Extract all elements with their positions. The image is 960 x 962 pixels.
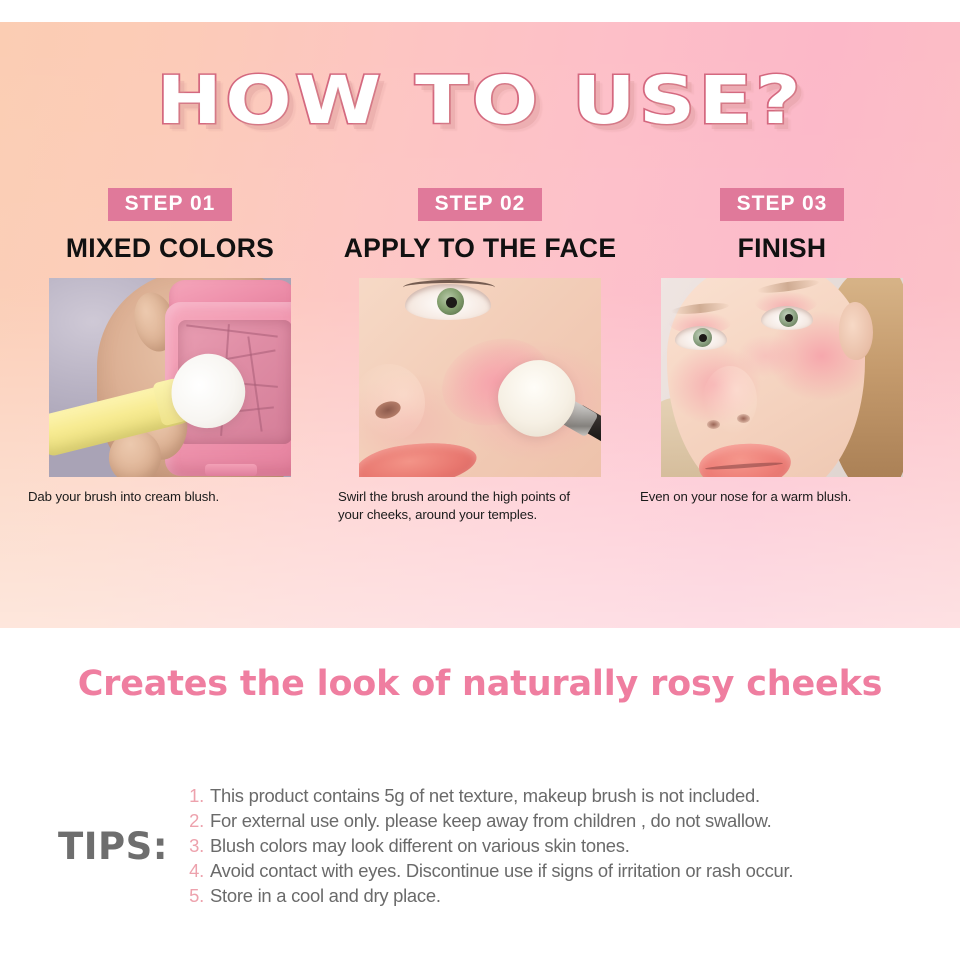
step-badge-1: STEP 01 xyxy=(108,188,233,221)
step-title-3: FINISH xyxy=(632,233,932,264)
tip-text: This product contains 5g of net texture,… xyxy=(210,783,938,808)
step-column-1: STEP 01 MIXED COLORS xyxy=(20,188,320,506)
eyelash-shape xyxy=(403,280,495,295)
list-item: 5. Store in a cool and dry place. xyxy=(178,883,938,908)
ear-shape xyxy=(839,302,873,360)
tip-number: 4. xyxy=(178,858,204,883)
tip-number: 1. xyxy=(178,783,204,808)
step-badge-row-2: STEP 02 xyxy=(330,188,630,221)
tips-list: 1. This product contains 5g of net textu… xyxy=(178,783,938,908)
steps-container: STEP 01 MIXED COLORS xyxy=(0,188,960,588)
tip-text: For external use only. please keep away … xyxy=(210,808,938,833)
step-caption-2: Swirl the brush around the high points o… xyxy=(338,488,588,524)
compact-clip xyxy=(205,464,257,476)
step-column-3: STEP 03 FINISH Even on your nose fo xyxy=(632,188,932,506)
finished-rosy-makeup-look-photo xyxy=(661,278,903,477)
nostril-shape xyxy=(737,414,750,423)
step-badge-3: STEP 03 xyxy=(720,188,845,221)
compact-blush-with-brush-photo xyxy=(49,278,291,477)
list-item: 3. Blush colors may look different on va… xyxy=(178,833,938,858)
tip-text: Store in a cool and dry place. xyxy=(210,883,938,908)
list-item: 1. This product contains 5g of net textu… xyxy=(178,783,938,808)
benefit-headline: Creates the look of naturally rosy cheek… xyxy=(0,664,960,704)
step-badge-row-3: STEP 03 xyxy=(632,188,932,221)
list-item: 2. For external use only. please keep aw… xyxy=(178,808,938,833)
tip-number: 5. xyxy=(178,883,204,908)
tip-text: Avoid contact with eyes. Discontinue use… xyxy=(210,858,938,883)
tip-number: 3. xyxy=(178,833,204,858)
list-item: 4. Avoid contact with eyes. Discontinue … xyxy=(178,858,938,883)
tips-label: TIPS: xyxy=(58,825,168,868)
step-caption-3: Even on your nose for a warm blush. xyxy=(640,488,890,506)
step-title-2: APPLY TO THE FACE xyxy=(330,233,630,264)
step-badge-2: STEP 02 xyxy=(418,188,543,221)
tip-number: 2. xyxy=(178,808,204,833)
applying-blush-to-cheek-photo xyxy=(359,278,601,477)
page-title-wrap: HOW TO USE? xyxy=(0,62,960,139)
step-badge-row-1: STEP 01 xyxy=(20,188,320,221)
tips-section: TIPS: 1. This product contains 5g of net… xyxy=(0,783,960,933)
pupil-shape xyxy=(446,297,457,308)
pan-crack xyxy=(186,324,278,337)
step-column-2: STEP 02 APPLY TO THE FACE Swirl the brus… xyxy=(330,188,630,524)
nostril-shape xyxy=(707,420,720,429)
pupil-shape xyxy=(699,334,707,342)
page-title: HOW TO USE? xyxy=(156,62,804,139)
step-title-1: MIXED COLORS xyxy=(20,233,320,264)
pupil-shape xyxy=(785,314,793,322)
step-caption-1: Dab your brush into cream blush. xyxy=(28,488,278,506)
tip-text: Blush colors may look different on vario… xyxy=(210,833,938,858)
